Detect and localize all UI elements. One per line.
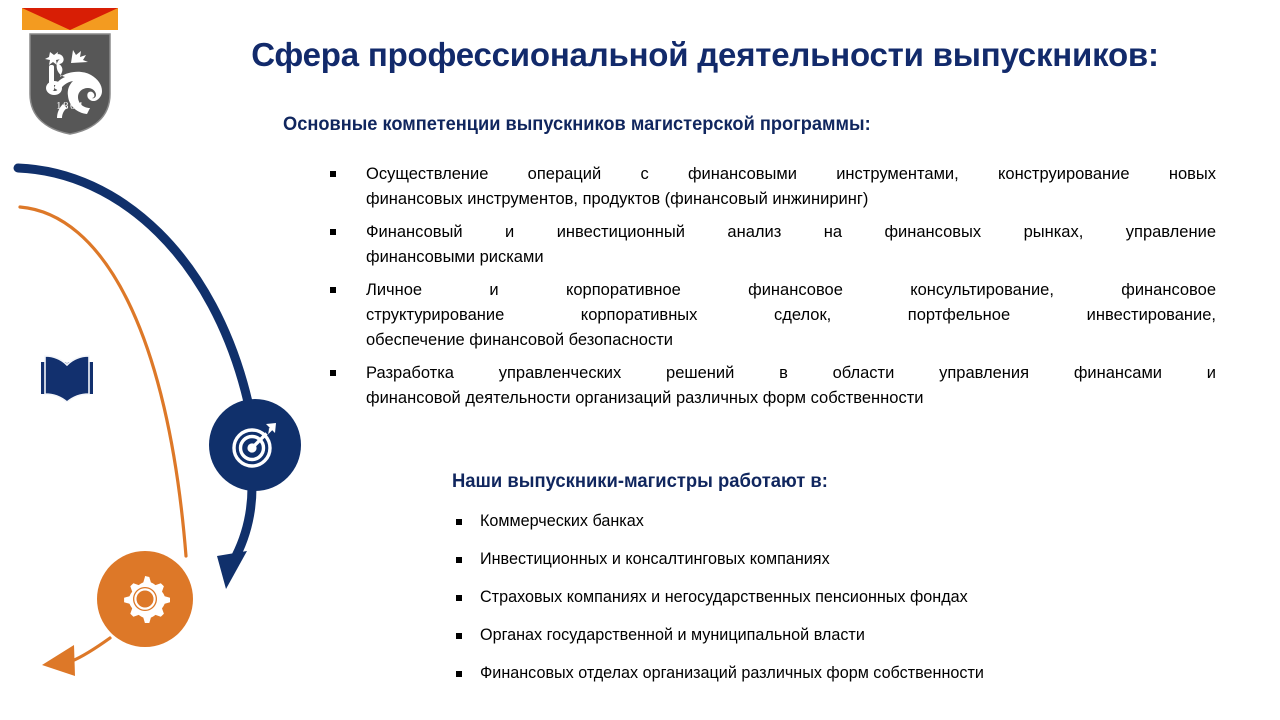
list-item-text: Разработка управленческих решений в обла… bbox=[366, 361, 1216, 411]
list-item-line: Финансовый и инвестиционный анализ на фи… bbox=[366, 220, 1216, 245]
list-item-text: Страховых компаниях и негосударственных … bbox=[480, 586, 968, 608]
bullet-square-icon bbox=[330, 287, 336, 293]
orange-arrowhead bbox=[42, 645, 75, 676]
list-item-line: Личное и корпоративное финансовое консул… bbox=[366, 278, 1216, 303]
list-item-text: Органах государственной и муниципальной … bbox=[480, 624, 865, 646]
bullet-square-icon bbox=[330, 229, 336, 235]
target-node bbox=[209, 399, 301, 491]
bullet-square-icon bbox=[330, 370, 336, 376]
list-item: Страховых компаниях и негосударственных … bbox=[452, 586, 1212, 624]
bullet-square-icon bbox=[456, 557, 462, 563]
navy-arc-tail bbox=[236, 487, 252, 556]
logo-year: 1804 bbox=[20, 100, 120, 112]
bullet-square-icon bbox=[456, 595, 462, 601]
logo-shield bbox=[28, 32, 112, 136]
page-title: Сфера профессиональной деятельности выпу… bbox=[150, 36, 1260, 74]
list-item-line: финансовыми рисками bbox=[366, 245, 1216, 270]
list-item-line: структурирование корпоративных сделок, п… bbox=[366, 303, 1216, 328]
list-item: Органах государственной и муниципальной … bbox=[452, 624, 1212, 662]
bullet-square-icon bbox=[330, 171, 336, 177]
list-item: Разработка управленческих решений в обла… bbox=[330, 361, 1216, 411]
gear-icon bbox=[120, 574, 170, 624]
competencies-list: Осуществление операций с финансовыми инс… bbox=[330, 162, 1216, 419]
bullet-square-icon bbox=[456, 671, 462, 677]
logo-red-chevron bbox=[22, 8, 118, 30]
list-item: Инвестиционных и консалтинговых компания… bbox=[452, 548, 1212, 586]
navy-arrowhead bbox=[217, 551, 247, 589]
section2-heading: Наши выпускники-магистры работают в: bbox=[452, 471, 828, 493]
open-book-icon bbox=[38, 352, 96, 402]
list-item-text: Инвестиционных и консалтинговых компания… bbox=[480, 548, 830, 570]
list-item-text: Личное и корпоративное финансовое консул… bbox=[366, 278, 1216, 353]
list-item-line: финансовой деятельности организаций разл… bbox=[366, 386, 1216, 411]
list-item: Осуществление операций с финансовыми инс… bbox=[330, 162, 1216, 212]
list-item: Личное и корпоративное финансовое консул… bbox=[330, 278, 1216, 353]
list-item-line: обеспечение финансовой безопасности bbox=[366, 328, 1216, 353]
section1-heading: Основные компетенции выпускников магисте… bbox=[283, 114, 871, 136]
bullet-square-icon bbox=[456, 519, 462, 525]
list-item-line: Осуществление операций с финансовыми инс… bbox=[366, 162, 1216, 187]
target-icon bbox=[228, 418, 282, 472]
gear-node bbox=[97, 551, 193, 647]
list-item-text: Финансовый и инвестиционный анализ на фи… bbox=[366, 220, 1216, 270]
logo-top-band bbox=[22, 8, 118, 30]
orange-arc-tail bbox=[72, 638, 110, 661]
bullet-square-icon bbox=[456, 633, 462, 639]
list-item-text: Финансовых отделах организаций различных… bbox=[480, 662, 984, 684]
list-item-line: Разработка управленческих решений в обла… bbox=[366, 361, 1216, 386]
list-item: Финансовых отделах организаций различных… bbox=[452, 662, 1212, 700]
list-item: Коммерческих банках bbox=[452, 510, 1212, 548]
list-item: Финансовый и инвестиционный анализ на фи… bbox=[330, 220, 1216, 270]
employers-list: Коммерческих банках Инвестиционных и кон… bbox=[452, 510, 1212, 700]
slide-root: 1804 bbox=[0, 0, 1280, 720]
list-item-text: Осуществление операций с финансовыми инс… bbox=[366, 162, 1216, 212]
list-item-line: финансовых инструментов, продуктов (фина… bbox=[366, 187, 1216, 212]
list-item-text: Коммерческих банках bbox=[480, 510, 644, 532]
university-logo: 1804 bbox=[20, 8, 120, 136]
